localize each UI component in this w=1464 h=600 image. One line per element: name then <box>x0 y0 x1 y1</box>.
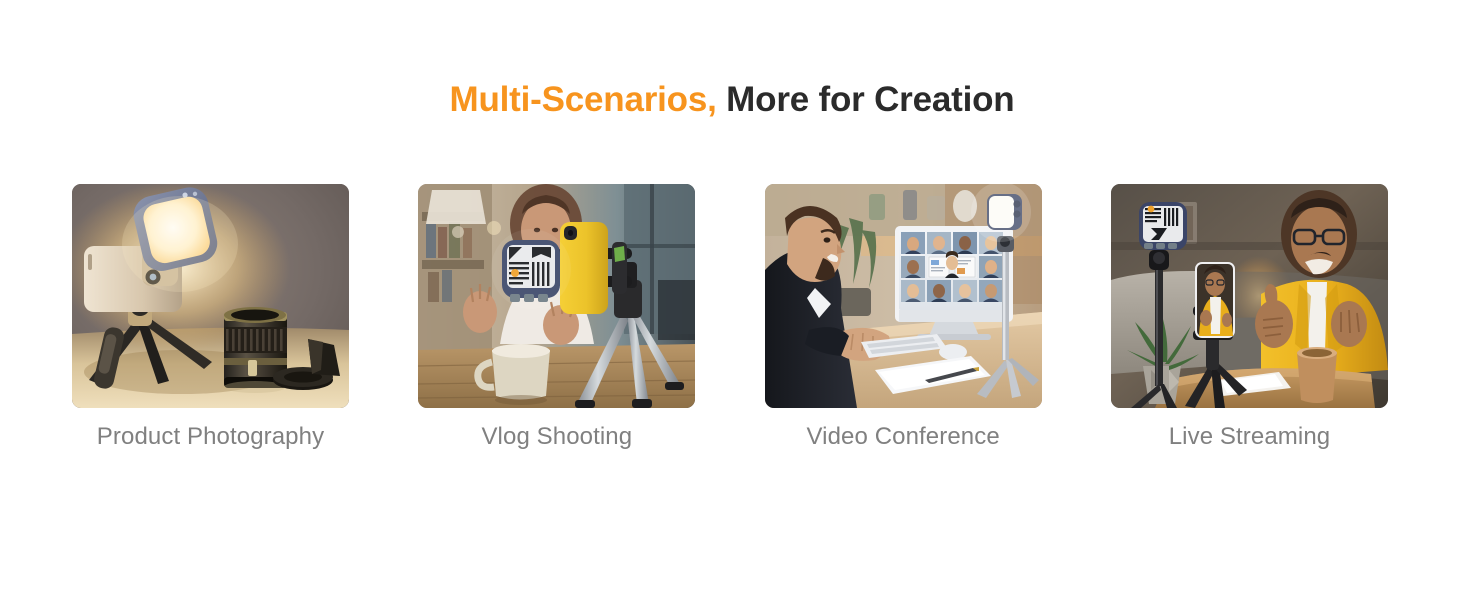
scenario-card-live-streaming[interactable]: Live Streaming <box>1111 184 1388 454</box>
product-photography-photo <box>72 184 349 408</box>
page-title: Multi-Scenarios, More for Creation <box>0 77 1464 123</box>
scenario-caption: Live Streaming <box>1169 421 1330 453</box>
scenario-card-product-photography[interactable]: Product Photography <box>72 184 349 454</box>
scenario-card-vlog-shooting[interactable]: Vlog Shooting <box>418 184 695 454</box>
page-title-accent: Multi-Scenarios, <box>450 80 717 119</box>
scenario-card-row: Product Photography <box>72 184 1388 454</box>
multi-scenarios-banner: Multi-Scenarios, More for Creation <box>0 0 1464 600</box>
live-streaming-photo <box>1111 184 1388 408</box>
page-title-plain: More for Creation <box>717 80 1015 119</box>
scenario-caption: Vlog Shooting <box>481 421 632 453</box>
scenario-card-video-conference[interactable]: Video Conference <box>765 184 1042 454</box>
video-conference-photo <box>765 184 1042 408</box>
scenario-caption: Product Photography <box>97 421 324 453</box>
vlog-shooting-photo <box>418 184 695 408</box>
scenario-caption: Video Conference <box>807 421 1000 453</box>
